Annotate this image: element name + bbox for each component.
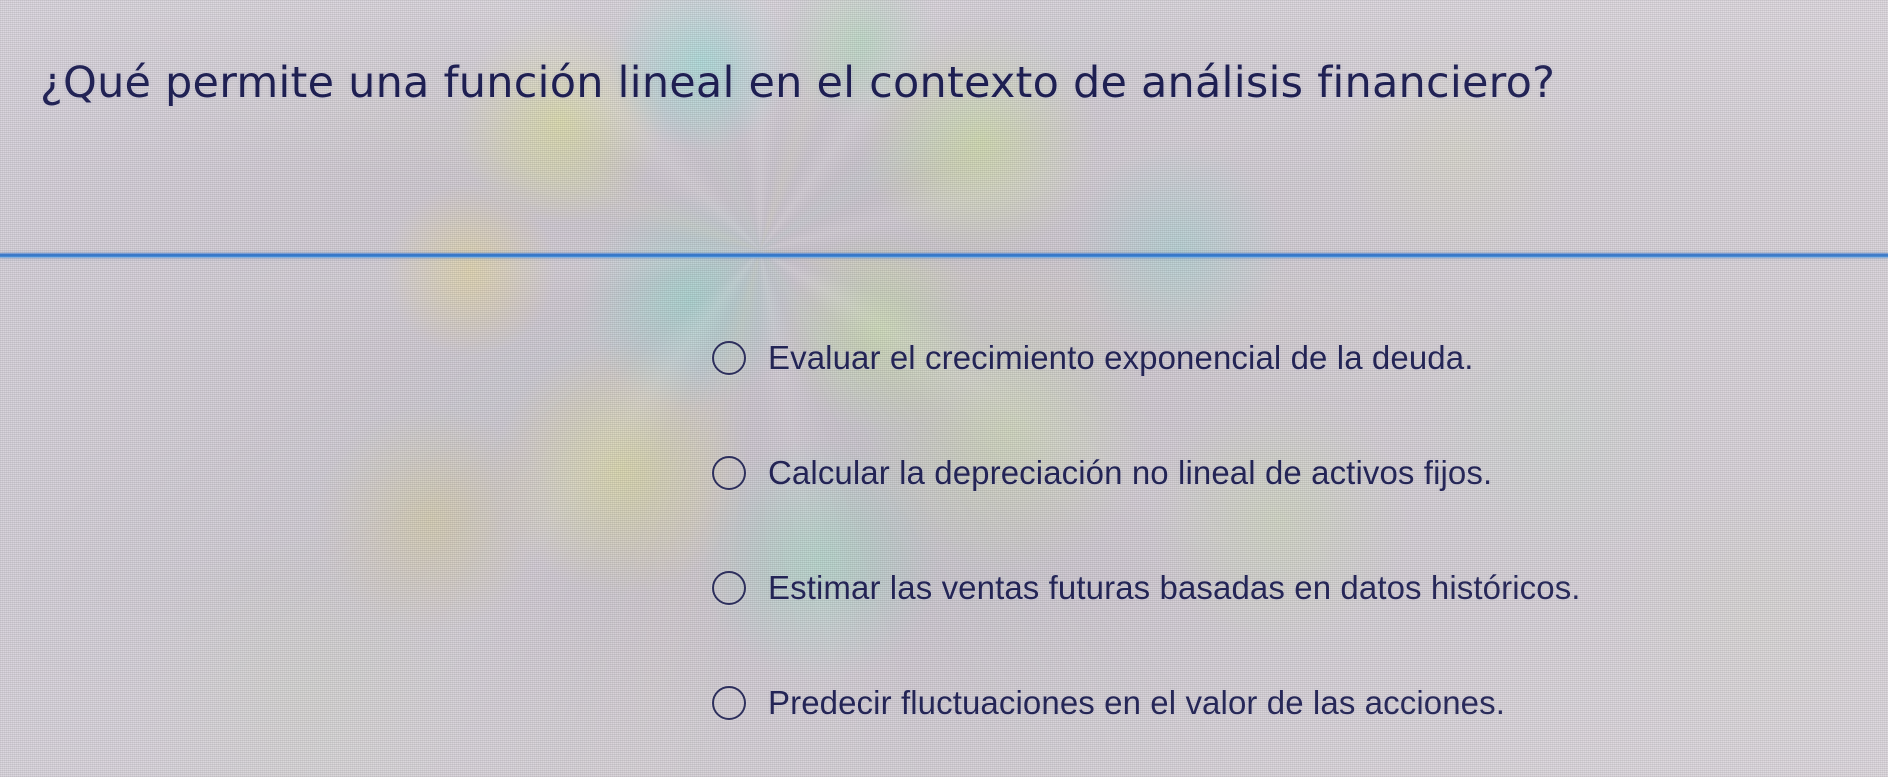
quiz-content: ¿Qué permite una función lineal en el co… <box>0 0 1888 777</box>
answer-options-list: Evaluar el crecimiento exponencial de la… <box>0 300 1888 760</box>
answer-option-label: Calcular la depreciación no lineal de ac… <box>768 454 1492 492</box>
radio-button-unchecked-icon[interactable] <box>712 571 746 605</box>
radio-button-unchecked-icon[interactable] <box>712 456 746 490</box>
answer-option-d[interactable]: Predecir fluctuaciones en el valor de la… <box>0 645 1888 760</box>
answer-option-a[interactable]: Evaluar el crecimiento exponencial de la… <box>0 300 1888 415</box>
section-divider <box>0 253 1888 258</box>
radio-button-unchecked-icon[interactable] <box>712 686 746 720</box>
answer-option-label: Estimar las ventas futuras basadas en da… <box>768 569 1581 607</box>
quiz-screen-photo: ¿Qué permite una función lineal en el co… <box>0 0 1888 777</box>
radio-button-unchecked-icon[interactable] <box>712 341 746 375</box>
answer-option-label: Evaluar el crecimiento exponencial de la… <box>768 339 1473 377</box>
answer-option-b[interactable]: Calcular la depreciación no lineal de ac… <box>0 415 1888 530</box>
question-prompt: ¿Qué permite una función lineal en el co… <box>40 58 1850 108</box>
answer-option-label: Predecir fluctuaciones en el valor de la… <box>768 684 1505 722</box>
answer-option-c[interactable]: Estimar las ventas futuras basadas en da… <box>0 530 1888 645</box>
